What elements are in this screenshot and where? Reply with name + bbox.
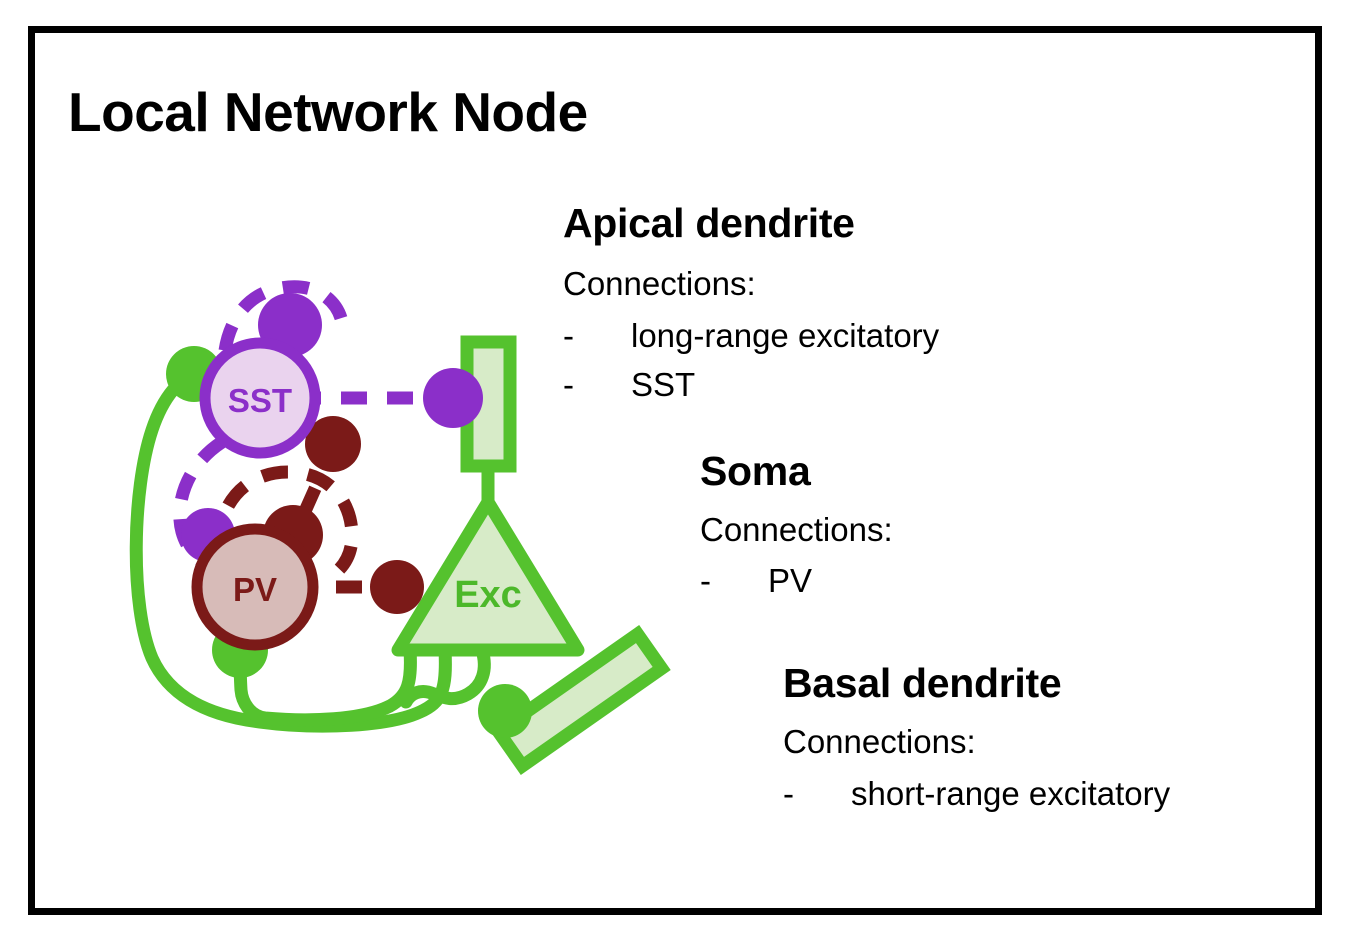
apical-dendrite-compartment: [467, 342, 510, 506]
slide-canvas: Local Network Node Apical dendrite Conne…: [0, 0, 1350, 942]
section-heading-apical: Apical dendrite: [563, 200, 855, 247]
section-item-label: short-range excitatory: [851, 775, 1170, 812]
pv-soma: PV: [197, 529, 313, 645]
sst-label: SST: [228, 382, 292, 419]
bullet-dash: -: [783, 775, 851, 813]
pv-label: PV: [233, 571, 277, 608]
section-heading-basal: Basal dendrite: [783, 660, 1061, 707]
section-item-label: PV: [768, 562, 812, 599]
section-subheading-basal: Connections:: [783, 723, 976, 761]
exc-label: Exc: [454, 574, 522, 616]
synapse-maroon-onto-exc: [370, 560, 424, 614]
exc-soma: Exc: [398, 502, 578, 650]
synapse-purple-apical: [423, 368, 483, 428]
page-title: Local Network Node: [68, 80, 588, 144]
synapse-green-basal: [478, 684, 532, 738]
circuit-diagram: Exc: [90, 250, 770, 780]
sst-soma: SST: [205, 343, 315, 453]
section-item-basal-0: -short-range excitatory: [783, 775, 1170, 813]
